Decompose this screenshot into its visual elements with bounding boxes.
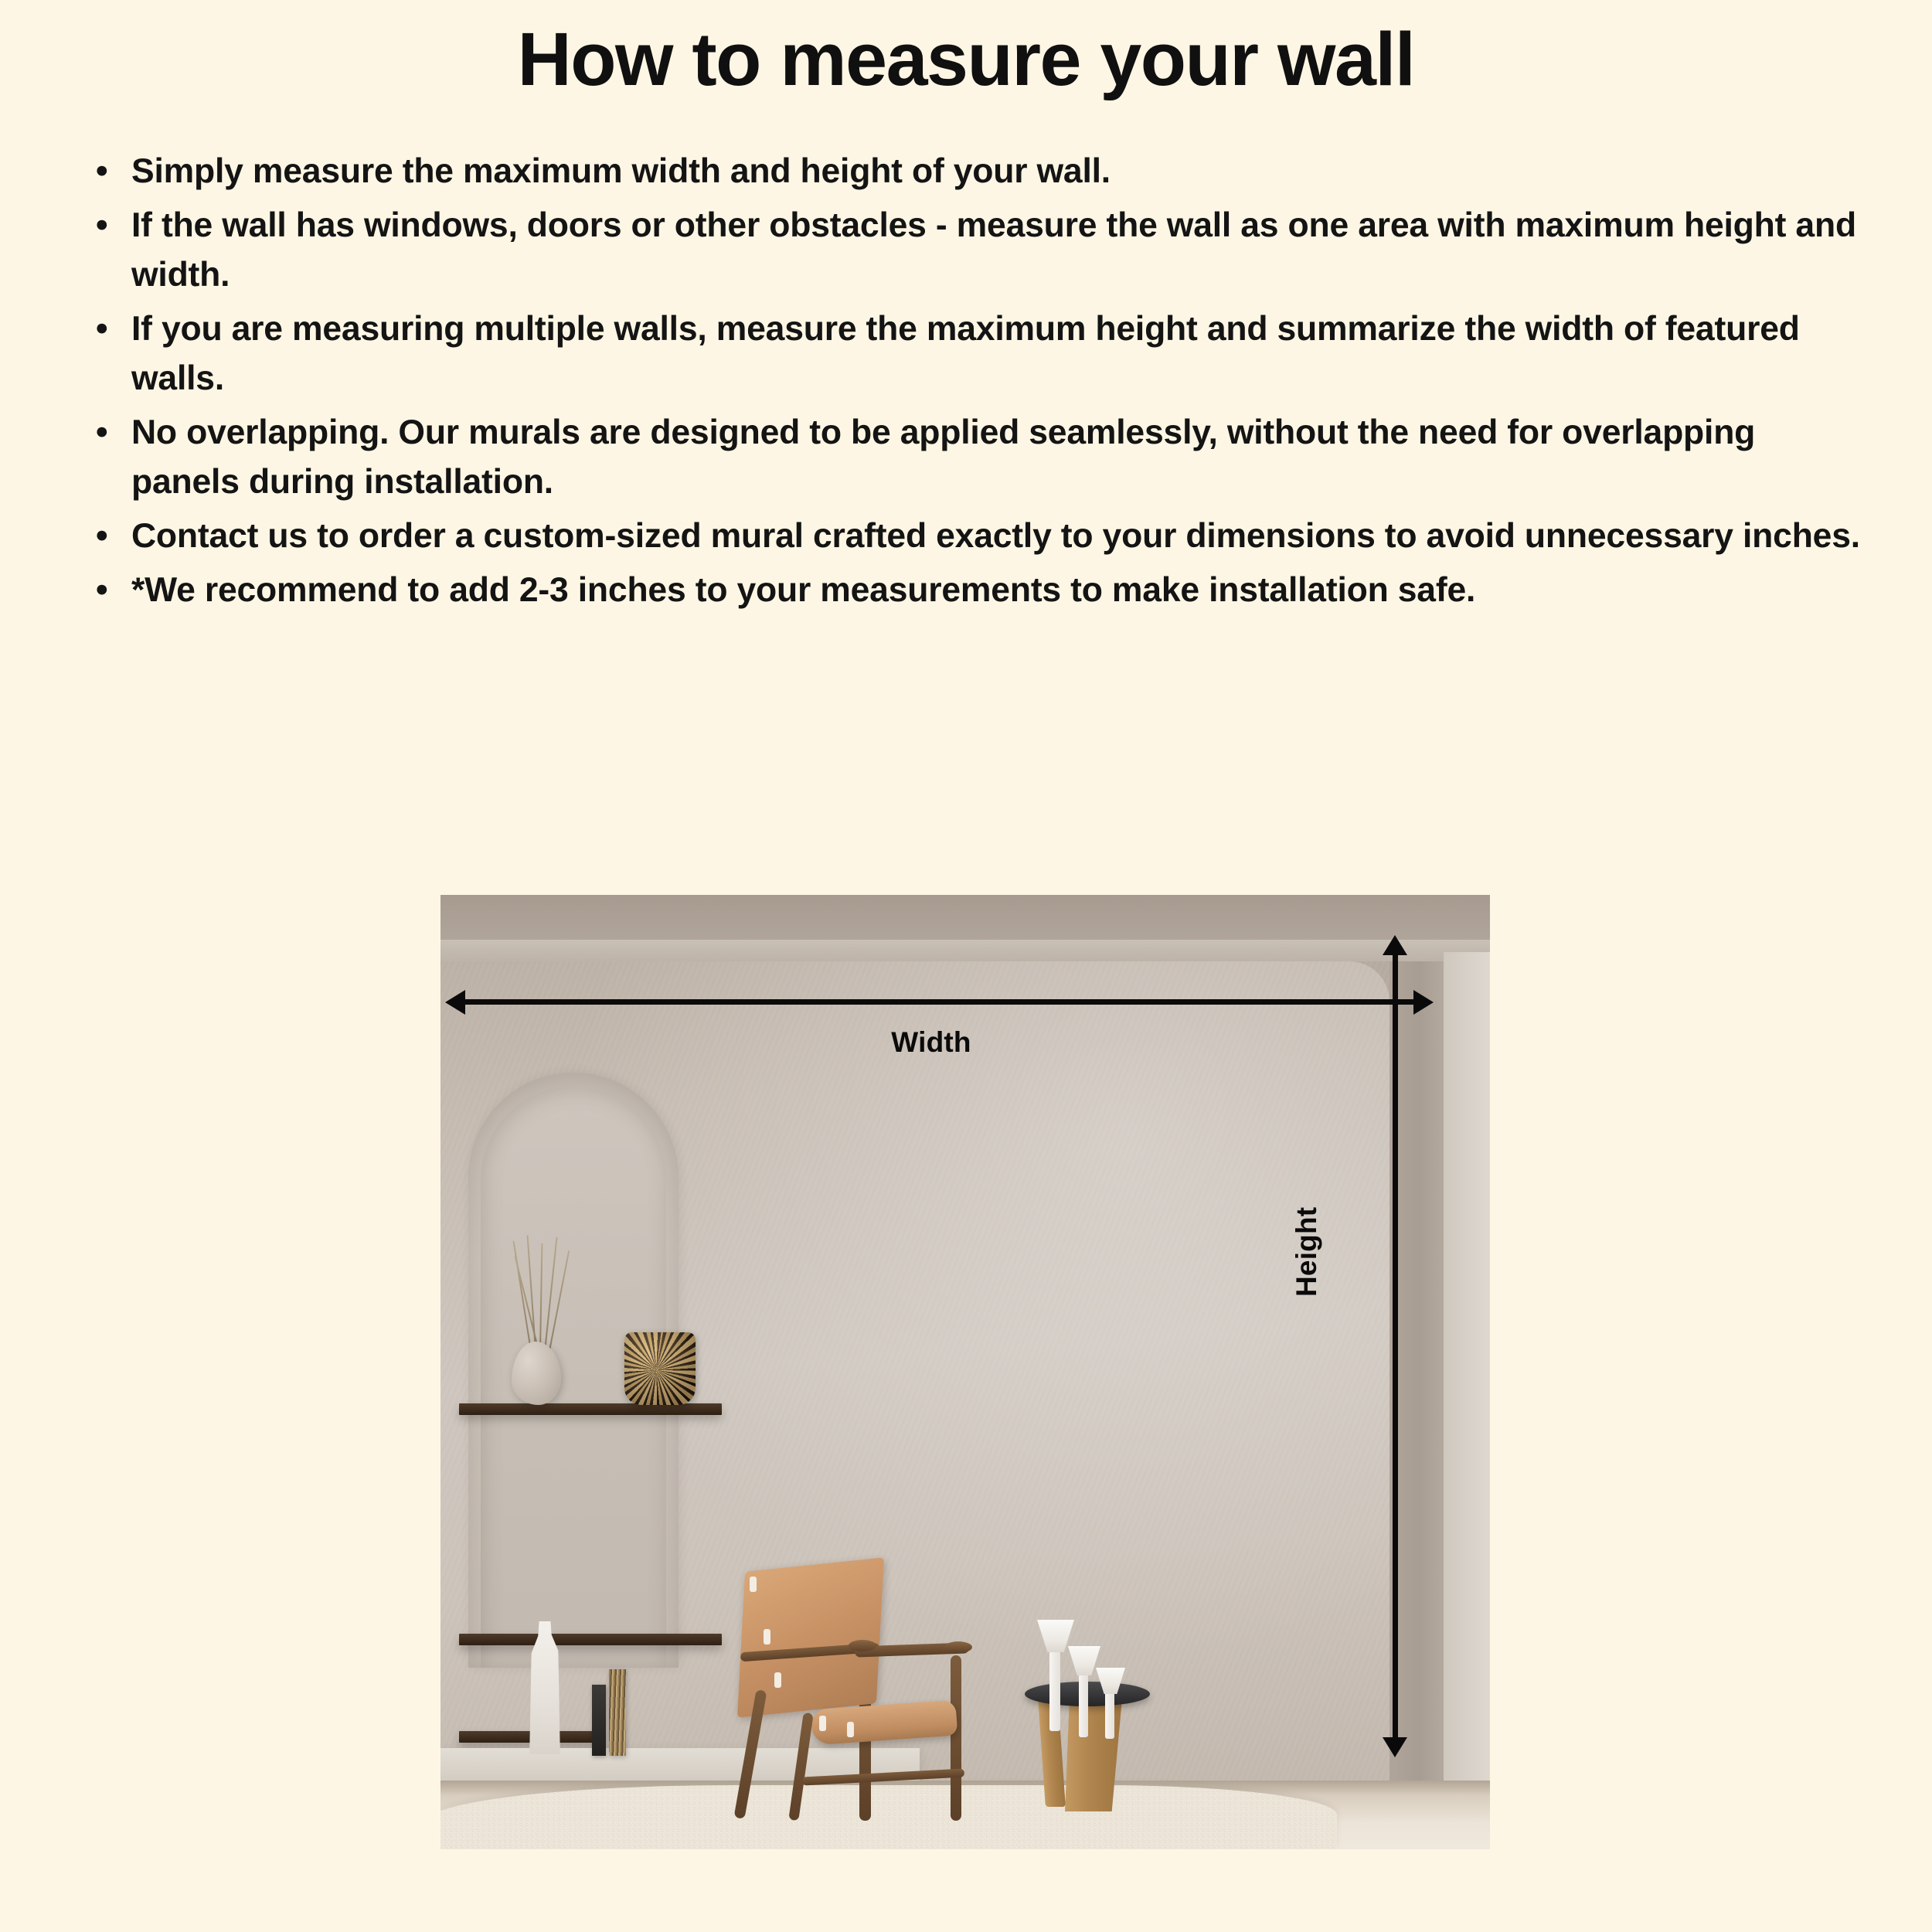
dark-bark-object	[592, 1685, 606, 1756]
back-wall	[1444, 952, 1490, 1787]
arrow-right-icon	[1413, 990, 1434, 1015]
instructions-list: • Simply measure the maximum width and h…	[83, 147, 1869, 616]
arrow-left-icon	[445, 990, 465, 1015]
room-photo: Width Height	[440, 895, 1490, 1849]
chair-stretcher	[802, 1769, 964, 1786]
chair-leather-strap	[764, 1629, 770, 1645]
arrow-up-icon	[1383, 935, 1407, 955]
list-item: • *We recommend to add 2-3 inches to you…	[83, 566, 1869, 615]
list-item-text: Contact us to order a custom-sized mural…	[131, 517, 1860, 555]
list-item: • No overlapping. Our murals are designe…	[83, 408, 1869, 507]
arrow-down-icon	[1383, 1737, 1407, 1757]
list-item: • Simply measure the maximum width and h…	[83, 147, 1869, 196]
chair-leather-strap	[774, 1672, 781, 1688]
shelf-middle	[459, 1634, 722, 1645]
list-item: • If you are measuring multiple walls, m…	[83, 304, 1869, 403]
chair-arm-knob	[944, 1641, 972, 1653]
dried-reeds	[522, 1235, 558, 1351]
chair-leg	[951, 1655, 961, 1821]
height-label: Height	[1291, 1207, 1323, 1297]
woven-vessel	[624, 1332, 696, 1405]
bullet-icon: •	[96, 304, 107, 354]
chair-leather-strap	[819, 1716, 826, 1731]
chair-leather-strap	[847, 1722, 854, 1737]
ceiling-light-band	[440, 940, 1490, 961]
page-title: How to measure your wall	[0, 0, 1932, 99]
shelf-bottom	[459, 1731, 598, 1743]
leather-sling-chair	[696, 1564, 978, 1811]
width-label: Width	[440, 1026, 1422, 1059]
list-item-text: If you are measuring multiple walls, mea…	[131, 310, 1800, 397]
bullet-icon: •	[96, 408, 107, 457]
light-bark-object	[609, 1669, 626, 1756]
chair-arm-knob	[849, 1640, 876, 1651]
chair-leather-strap	[750, 1577, 757, 1592]
list-item: • If the wall has windows, doors or othe…	[83, 201, 1869, 300]
height-measure-line	[1393, 951, 1398, 1743]
bullet-icon: •	[96, 512, 107, 561]
bullet-icon: •	[96, 201, 107, 250]
shelf-top	[459, 1403, 722, 1415]
list-item: • Contact us to order a custom-sized mur…	[83, 512, 1869, 561]
list-item-text: If the wall has windows, doors or other …	[131, 206, 1856, 294]
bullet-icon: •	[96, 566, 107, 615]
list-item-text: No overlapping. Our murals are designed …	[131, 413, 1755, 501]
bullet-icon: •	[96, 147, 107, 196]
list-item-text: *We recommend to add 2-3 inches to your …	[131, 571, 1475, 609]
width-measure-line	[460, 999, 1420, 1005]
chair-leg	[788, 1713, 813, 1821]
list-item-text: Simply measure the maximum width and hei…	[131, 152, 1111, 190]
